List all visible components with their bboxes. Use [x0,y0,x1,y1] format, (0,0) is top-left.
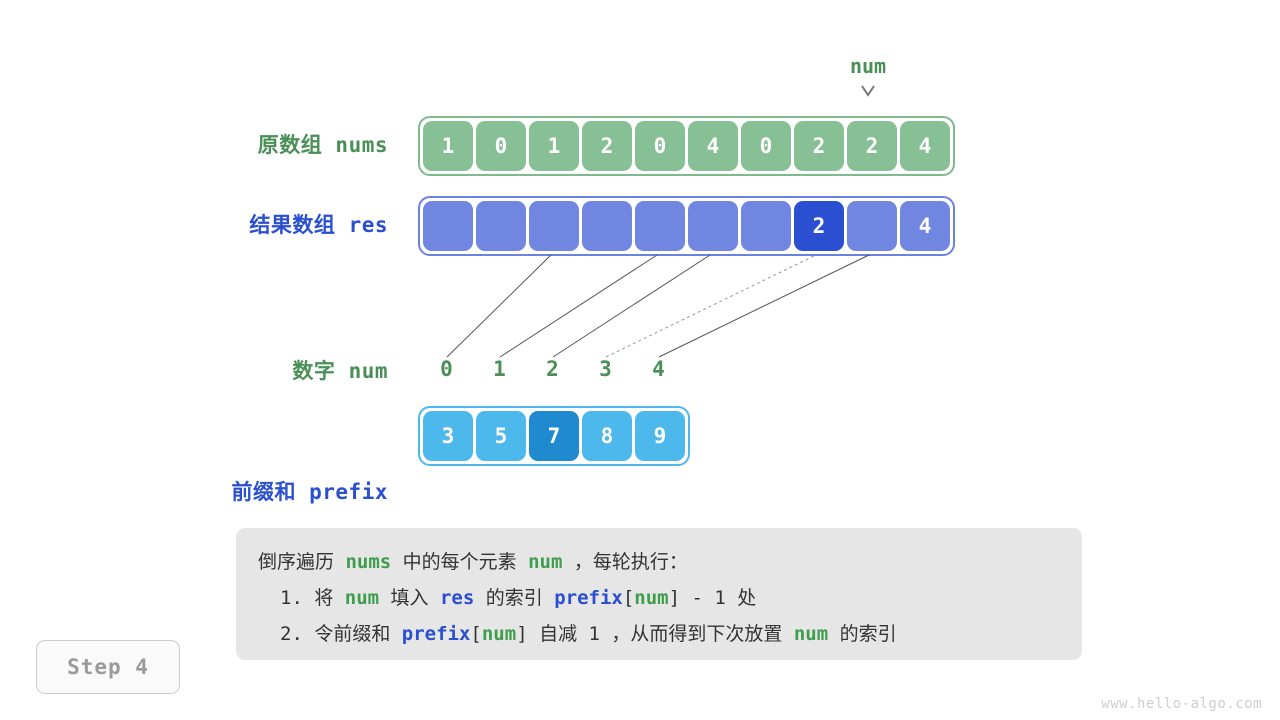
caption-line-3: 2. 令前缀和 prefix[num] 自减 1 ，从而得到下次放置 num 的… [258,616,1060,652]
caption-keyword-num: num [528,551,562,573]
caption-text: 2. 令前缀和 [280,623,402,645]
res-row-label: 结果数组 res [120,211,388,239]
caption-text: 中的每个元素 [391,551,528,573]
prefix-cell: 8 [582,411,632,461]
caption-keyword-num: num [482,623,516,645]
nums-cell: 0 [476,121,526,171]
prefix-cell: 7 [529,411,579,461]
caption-text: [ [470,623,481,645]
caption-keyword-prefix: prefix [402,623,471,645]
num-index-value: 0 [420,357,473,381]
nums-cell: 1 [423,121,473,171]
res-cell: 2 [794,201,844,251]
num-index-row-label: 数字 num [120,357,388,385]
caption-keyword-nums: nums [345,551,391,573]
step-badge: Step 4 [36,640,180,694]
prefix-array: 35789 [418,406,690,466]
caption-box: 倒序遍历 nums 中的每个元素 num ，每轮执行： 1. 将 num 填入 … [236,528,1082,660]
num-index-value: 1 [473,357,526,381]
caption-text: 填入 [379,587,440,609]
num-pointer-label: num [830,56,906,76]
nums-array: 1012040224 [418,116,955,176]
caption-keyword-num: num [345,587,379,609]
prefix-cell: 5 [476,411,526,461]
nums-cell: 2 [847,121,897,171]
caption-text: 的索引 [474,587,554,609]
nums-cell: 4 [900,121,950,171]
caption-keyword-num: num [794,623,828,645]
nums-cell: 4 [688,121,738,171]
caption-text: [ [623,587,634,609]
prefix-cell: 3 [423,411,473,461]
res-cell: 4 [900,201,950,251]
caption-line-1: 倒序遍历 nums 中的每个元素 num ，每轮执行： [258,544,1060,580]
caption-line-2: 1. 将 num 填入 res 的索引 prefix[num] - 1 处 [258,580,1060,616]
res-array: 24 [418,196,955,256]
caption-keyword-res: res [440,587,474,609]
res-cell [423,201,473,251]
res-cell [476,201,526,251]
nums-cell: 0 [635,121,685,171]
nums-cell: 2 [582,121,632,171]
nums-cell: 2 [794,121,844,171]
diagram-canvas: num 原数组 nums 1012040224 结果数组 res 24 数字 n… [0,0,1280,720]
res-cell [847,201,897,251]
caption-text: 倒序遍历 [258,551,345,573]
res-cell [582,201,632,251]
nums-cell: 0 [741,121,791,171]
caption-text: 1. 将 [280,587,345,609]
res-cell [635,201,685,251]
prefix-cell: 9 [635,411,685,461]
num-index-value: 4 [632,357,685,381]
res-cell [688,201,738,251]
nums-row-label: 原数组 nums [120,131,388,159]
res-cell [741,201,791,251]
prefix-row-label-line1: 前缀和 prefix [120,478,388,506]
num-index-value: 3 [579,357,632,381]
caption-keyword-prefix: prefix [554,587,623,609]
num-pointer: num [830,56,906,100]
caption-text: ] - 1 处 [669,587,757,609]
num-index-row: 01234 [420,357,685,381]
caption-keyword-num: num [634,587,668,609]
num-index-value: 2 [526,357,579,381]
caption-text: ] 自减 1 ，从而得到下次放置 [516,623,794,645]
chevron-down-icon [830,85,906,100]
nums-cell: 1 [529,121,579,171]
watermark: www.hello-algo.com [1101,696,1262,712]
caption-text: ，每轮执行： [562,551,687,573]
caption-text: 的索引 [828,623,896,645]
res-cell [529,201,579,251]
